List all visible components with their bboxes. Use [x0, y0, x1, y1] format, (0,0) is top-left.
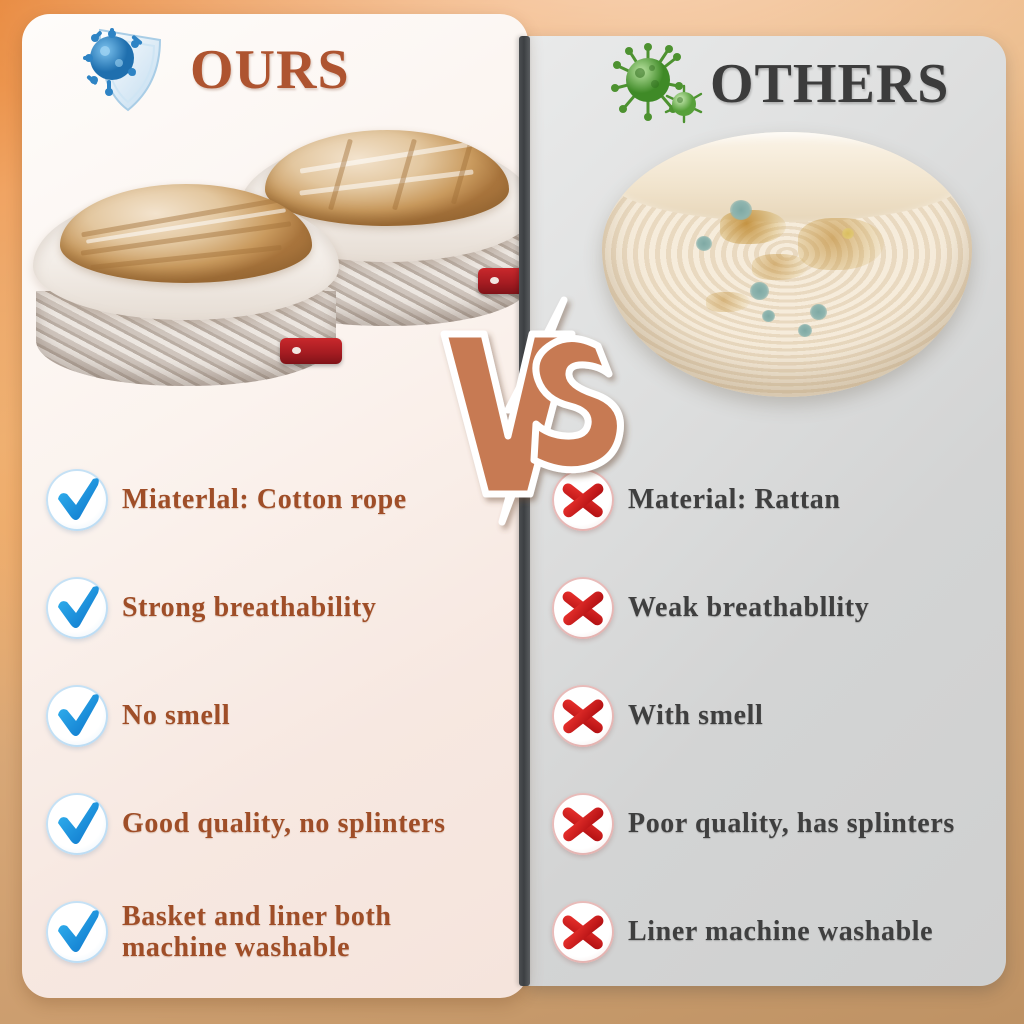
mold-spot — [842, 228, 854, 239]
list-item-label: Liner machine washable — [628, 916, 933, 947]
list-item-label: Weak breathabllity — [628, 592, 869, 623]
list-item-label: Basket and liner both machine washable — [122, 901, 452, 964]
others-feature-list: Material: Rattan Weak breathabllity — [552, 446, 1012, 986]
list-item[interactable]: Poor quality, has splinters — [552, 770, 1012, 878]
others-header: OTHERS — [610, 42, 949, 126]
list-item-label: No smell — [122, 700, 230, 731]
check-icon — [46, 577, 108, 639]
green-virus-icon — [610, 42, 706, 126]
list-item[interactable]: Material: Rattan — [552, 446, 1012, 554]
cross-icon — [552, 577, 614, 639]
ours-feature-list: Miaterlal: Cotton rope Strong breathabil… — [46, 446, 516, 986]
mold-spot — [798, 324, 812, 337]
mold-stain — [798, 218, 884, 270]
check-icon — [46, 469, 108, 531]
vs-badge — [438, 300, 618, 522]
list-item-label: Poor quality, has splinters — [628, 808, 955, 839]
comparison-infographic: OURS — [0, 0, 1024, 1024]
virus-shield-icon — [76, 22, 186, 118]
list-item-label: Strong breathability — [122, 592, 376, 623]
list-item[interactable]: Weak breathabllity — [552, 554, 1012, 662]
mold-stain — [752, 254, 808, 280]
ours-title: OURS — [190, 42, 350, 98]
list-item[interactable]: With smell — [552, 662, 1012, 770]
mold-spot — [750, 282, 769, 300]
list-item-label: With smell — [628, 700, 763, 731]
mold-stain — [706, 292, 750, 312]
red-handle — [280, 338, 342, 364]
list-item[interactable]: Basket and liner both machine washable — [46, 878, 516, 986]
mold-spot — [730, 200, 752, 220]
mold-spot — [762, 310, 775, 322]
list-item-label: Material: Rattan — [628, 484, 841, 515]
list-item[interactable]: Good quality, no splinters — [46, 770, 516, 878]
rattan-rim — [606, 132, 969, 222]
others-product-image — [602, 132, 972, 412]
list-item[interactable]: No smell — [46, 662, 516, 770]
bread-basket-front — [36, 180, 336, 386]
list-item[interactable]: Strong breathability — [46, 554, 516, 662]
check-icon — [46, 685, 108, 747]
ours-header: OURS — [76, 22, 350, 118]
mold-spot — [696, 236, 712, 251]
others-title: OTHERS — [710, 56, 949, 112]
check-icon — [46, 901, 108, 963]
check-icon — [46, 793, 108, 855]
bread-loaf — [60, 184, 312, 283]
cross-icon — [552, 901, 614, 963]
cross-icon — [552, 793, 614, 855]
mold-stain — [720, 210, 786, 244]
list-item[interactable]: Liner machine washable — [552, 878, 1012, 986]
cross-icon — [552, 685, 614, 747]
list-item-label: Miaterlal: Cotton rope — [122, 484, 407, 515]
rattan-basket-illustration — [602, 132, 972, 397]
list-item-label: Good quality, no splinters — [122, 808, 446, 839]
mold-spot — [810, 304, 827, 320]
